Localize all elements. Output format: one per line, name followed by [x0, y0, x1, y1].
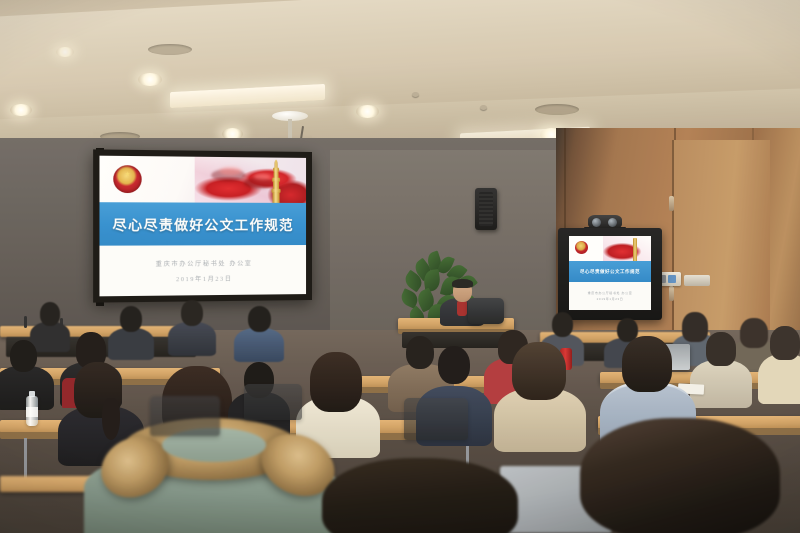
tv-emblem-icon: [575, 241, 588, 254]
presenter-tie: [457, 300, 467, 316]
attendee-row2-tan-coat: [494, 342, 586, 442]
attendee-back-3-suit: [168, 300, 216, 348]
water-bottle-left: [26, 396, 38, 426]
slide-title: 尽心尽责做好公文工作规范: [113, 214, 294, 235]
attendee-foreground-dark-head: [322, 458, 518, 533]
attendee-foreground-right: [580, 418, 780, 533]
switch-key-5[interactable]: [668, 275, 676, 283]
tv-subtitle-line-2: 2019年1月23日: [597, 297, 624, 301]
smoke-detector-icon-2: [412, 92, 419, 97]
chair-mid: [404, 398, 468, 440]
recessed-downlight: [56, 47, 74, 57]
tv-tower-graphic: [633, 238, 637, 262]
tv-subtitle-line-1: 重庆市办公厅秘书处 办公室: [588, 291, 633, 295]
smoke-detector-icon: [480, 105, 487, 110]
wall-mounted-tv: 尽心尽责做好公文工作规范 重庆市办公厅秘书处 办公室 2019年1月23日: [558, 228, 662, 320]
slide-title-band: 尽心尽责做好公文工作规范: [99, 202, 306, 245]
tv-flag-graphic: [603, 236, 651, 262]
slide-footer-band: 重庆市办公厅秘书处 办公室 2019年1月23日: [99, 245, 306, 296]
ceiling-air-vent-2: [535, 104, 579, 115]
attendee-row3-6: [758, 326, 800, 396]
china-national-emblem-icon: [113, 165, 141, 193]
ceiling-air-vent-1: [148, 44, 192, 55]
tv-display: 尽心尽责做好公文工作规范 重庆市办公厅秘书处 办公室 2019年1月23日: [569, 236, 651, 310]
door-hinge-upper: [669, 196, 674, 211]
projection-screen: 尽心尽责做好公文工作规范 重庆市办公厅秘书处 办公室 2019年1月23日: [93, 149, 312, 302]
presenter-chair: [468, 298, 504, 324]
presentation-slide: 尽心尽责做好公文工作规范 重庆市办公厅秘书处 办公室 2019年1月23日: [99, 156, 306, 297]
wall-mounted-speaker: [475, 188, 497, 230]
desk-microphone: [24, 316, 27, 328]
gold-tower-graphic: [271, 160, 280, 204]
wall-outlet-plate[interactable]: [684, 275, 710, 286]
attendee-back-4-blue: [234, 306, 284, 354]
conference-room-photo: 尽心尽责做好公文工作规范 重庆市办公厅秘书处 办公室 2019年1月23日 尽心…: [0, 0, 800, 533]
recessed-downlight: [138, 73, 162, 86]
door-hinge-lower: [669, 286, 674, 301]
slide-subtitle-line-1: 重庆市办公厅秘书处 办公室: [156, 258, 253, 268]
presenter-hair: [452, 279, 473, 288]
chair-foreground: [150, 396, 220, 436]
tv-slide-title: 尽心尽责做好公文工作规范: [580, 269, 640, 275]
attendee-row3-1: [0, 340, 54, 402]
recessed-downlight: [10, 104, 32, 116]
red-flag-graphic: [195, 156, 306, 206]
video-conference-camera: [588, 215, 622, 229]
recessed-downlight: [356, 105, 379, 118]
chair-mid-2: [244, 384, 302, 420]
tv-slide-header: [569, 236, 651, 261]
tv-slide-footer: 重庆市办公厅秘书处 办公室 2019年1月23日: [569, 282, 651, 310]
tv-title-band: 尽心尽责做好公文工作规范: [569, 261, 651, 282]
slide-header-band: [99, 156, 306, 203]
slide-subtitle-line-2: 2019年1月23日: [176, 273, 233, 283]
